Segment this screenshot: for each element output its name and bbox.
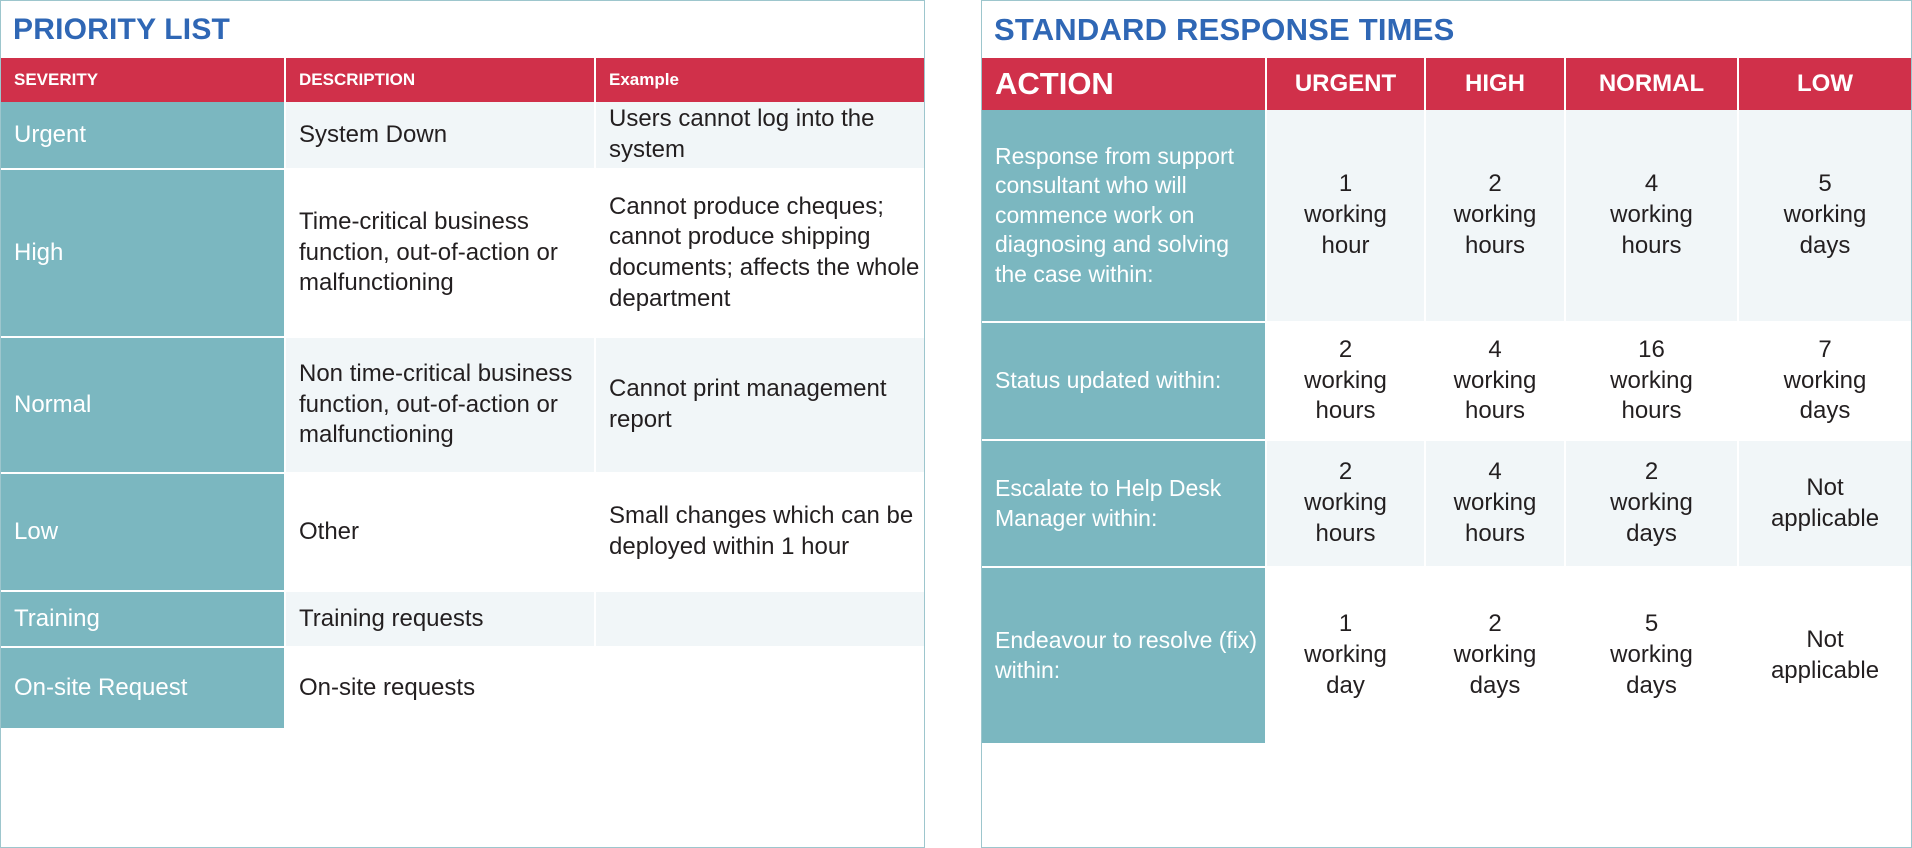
standard-response-times-title: STANDARD RESPONSE TIMES <box>982 1 1911 58</box>
table-row: Training Training requests <box>1 592 924 648</box>
table-row: High Time-critical business function, ou… <box>1 170 924 338</box>
cell-description: Training requests <box>286 592 596 646</box>
cell-example <box>596 592 924 646</box>
cell-example: Cannot produce cheques; cannot produce s… <box>596 170 924 336</box>
cell-urgent: 2 working hours <box>1267 323 1426 439</box>
cell-low: 7 working days <box>1739 323 1911 439</box>
cell-example: Small changes which can be deployed with… <box>596 474 924 590</box>
table-row: Endeavour to resolve (fix) within: 1 wor… <box>982 568 1911 743</box>
priority-list-table: PRIORITY LIST SEVERITY DESCRIPTION Examp… <box>0 0 925 848</box>
standard-response-times-table: STANDARD RESPONSE TIMES ACTION URGENT HI… <box>981 0 1912 848</box>
column-header-low: LOW <box>1739 58 1911 110</box>
cell-example: Cannot print management report <box>596 338 924 472</box>
table-row: Urgent System Down Users cannot log into… <box>1 102 924 170</box>
priority-list-title: PRIORITY LIST <box>1 1 924 58</box>
cell-example: Users cannot log into the system <box>596 102 924 168</box>
cell-low: Not applicable <box>1739 568 1911 743</box>
table-row: Status updated within: 2 working hours 4… <box>982 323 1911 441</box>
cell-low: 5 working days <box>1739 110 1911 321</box>
column-header-high: HIGH <box>1426 58 1566 110</box>
cell-severity: Urgent <box>1 102 286 168</box>
cell-normal: 4 working hours <box>1566 110 1739 321</box>
cell-action: Endeavour to resolve (fix) within: <box>982 568 1267 743</box>
response-times-header-row: ACTION URGENT HIGH NORMAL LOW <box>982 58 1911 110</box>
document-root: PRIORITY LIST SEVERITY DESCRIPTION Examp… <box>0 0 1912 848</box>
cell-normal: 5 working days <box>1566 568 1739 743</box>
cell-severity: Training <box>1 592 286 646</box>
table-row: Response from support consultant who wil… <box>982 110 1911 323</box>
table-row: On-site Request On-site requests <box>1 648 924 728</box>
cell-urgent: 1 working hour <box>1267 110 1426 321</box>
cell-severity: Normal <box>1 338 286 472</box>
table-row: Normal Non time-critical business functi… <box>1 338 924 474</box>
priority-list-header-row: SEVERITY DESCRIPTION Example <box>1 58 924 102</box>
column-header-description: DESCRIPTION <box>286 58 596 102</box>
cell-description: Non time-critical business function, out… <box>286 338 596 472</box>
cell-description: Other <box>286 474 596 590</box>
cell-description: System Down <box>286 102 596 168</box>
cell-action: Response from support consultant who wil… <box>982 110 1267 321</box>
column-header-severity: SEVERITY <box>1 58 286 102</box>
cell-urgent: 2 working hours <box>1267 441 1426 566</box>
cell-urgent: 1 working day <box>1267 568 1426 743</box>
cell-description: On-site requests <box>286 648 924 728</box>
cell-action: Status updated within: <box>982 323 1267 439</box>
cell-high: 2 working hours <box>1426 110 1566 321</box>
priority-list-body: Urgent System Down Users cannot log into… <box>1 102 924 847</box>
cell-severity: Low <box>1 474 286 590</box>
cell-normal: 2 working days <box>1566 441 1739 566</box>
cell-high: 2 working days <box>1426 568 1566 743</box>
column-header-action: ACTION <box>982 58 1267 110</box>
cell-description: Time-critical business function, out-of-… <box>286 170 596 336</box>
column-header-normal: NORMAL <box>1566 58 1739 110</box>
response-times-body: Response from support consultant who wil… <box>982 110 1911 847</box>
cell-normal: 16 working hours <box>1566 323 1739 439</box>
table-row: Escalate to Help Desk Manager within: 2 … <box>982 441 1911 568</box>
cell-high: 4 working hours <box>1426 323 1566 439</box>
column-header-urgent: URGENT <box>1267 58 1426 110</box>
cell-high: 4 working hours <box>1426 441 1566 566</box>
cell-severity: On-site Request <box>1 648 286 728</box>
cell-severity: High <box>1 170 286 336</box>
table-row: Low Other Small changes which can be dep… <box>1 474 924 592</box>
cell-action: Escalate to Help Desk Manager within: <box>982 441 1267 566</box>
column-header-example: Example <box>596 58 924 102</box>
cell-low: Not applicable <box>1739 441 1911 566</box>
